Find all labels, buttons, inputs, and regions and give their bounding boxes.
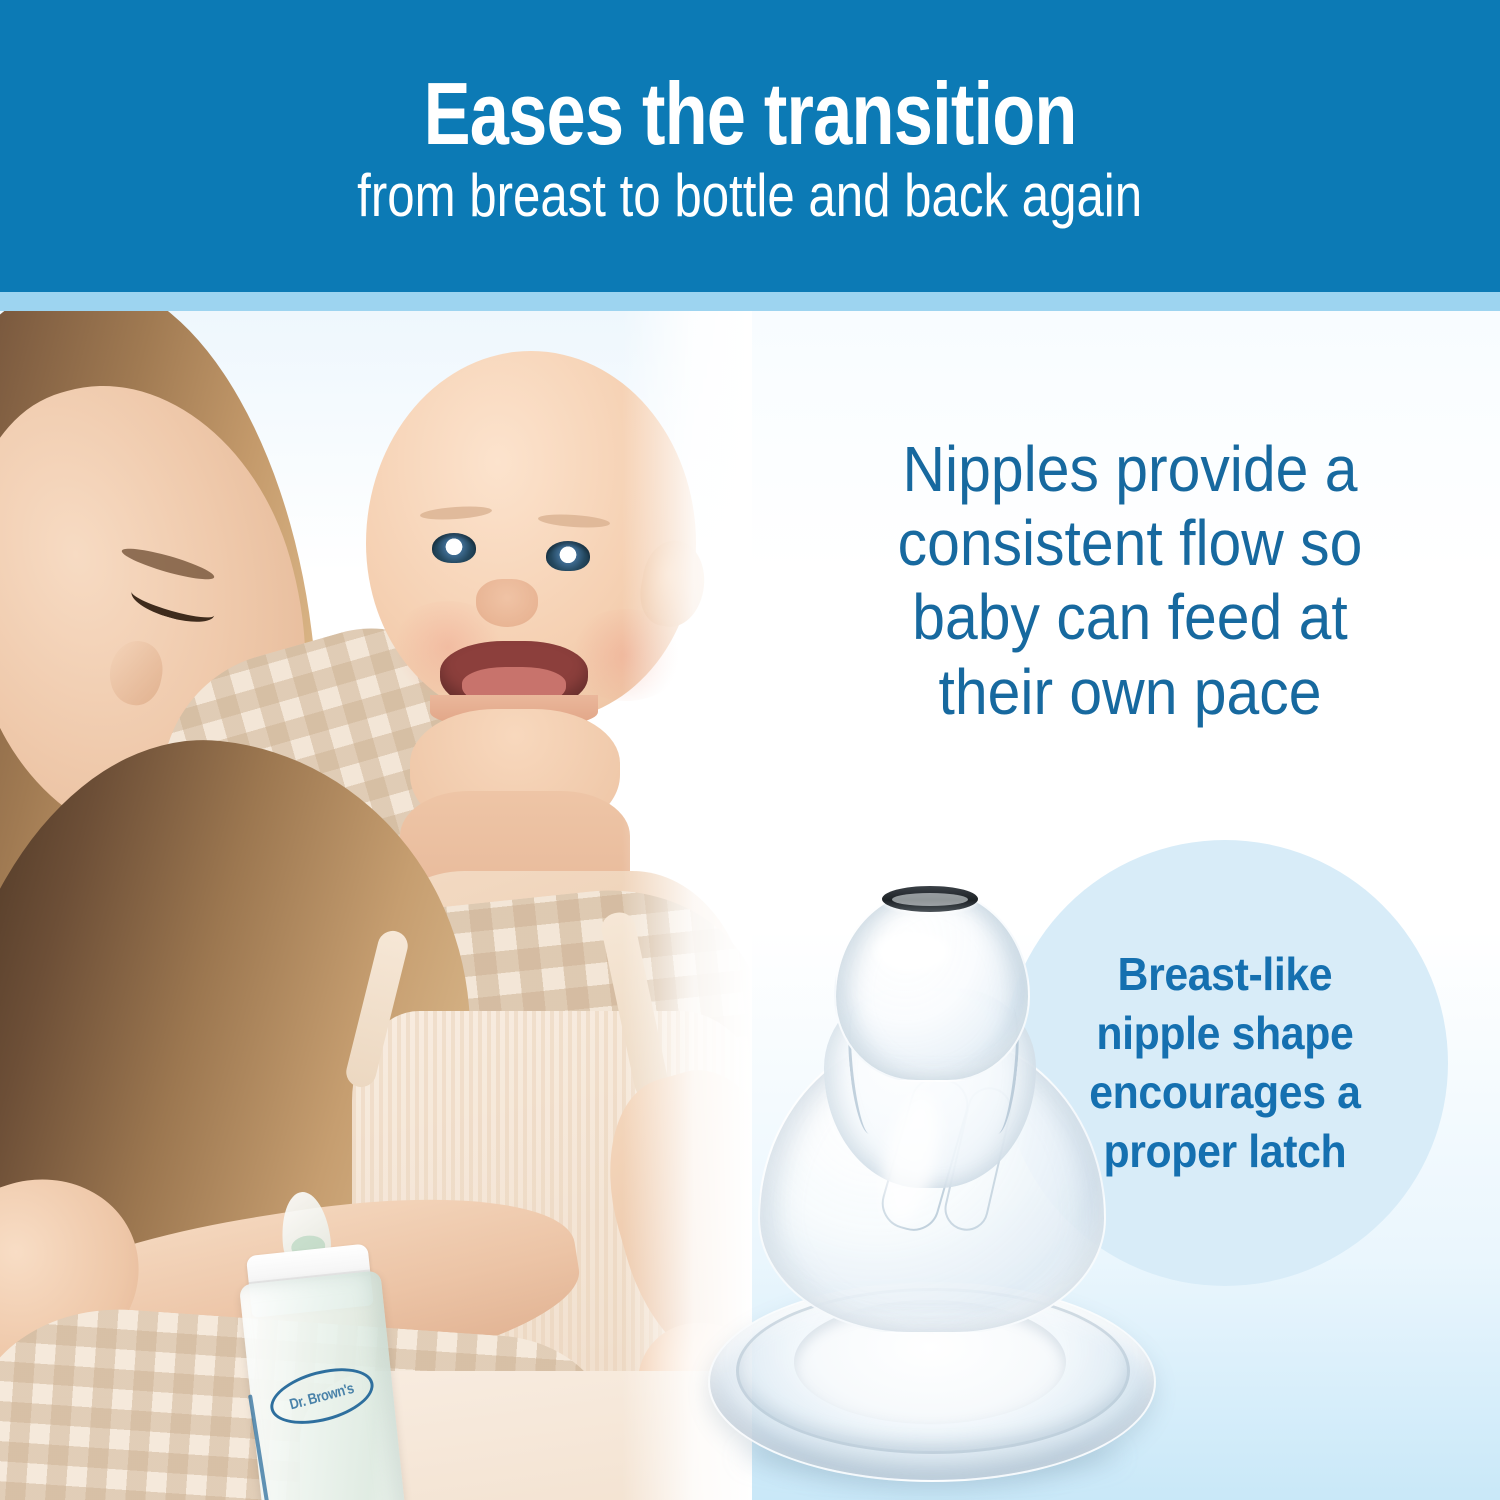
nipple-vent-hole-inner [892, 893, 968, 906]
blurb-line-1: Nipples provide a [799, 432, 1461, 506]
header-banner: Eases the transition from breast to bott… [0, 0, 1500, 292]
blurb-line-4: their own pace [799, 655, 1461, 729]
banner-subheadline: from breast to bottle and back again [358, 164, 1143, 227]
baby-eye-right [546, 541, 590, 571]
baby-nose [476, 579, 538, 627]
photo-bottom-fade [0, 1410, 752, 1500]
photo-scene: Dr. Brown's [0, 311, 752, 1500]
baby-eye-left [432, 533, 476, 563]
banner-accent-stripe [0, 292, 1500, 311]
blurb-line-3: baby can feed at [799, 580, 1461, 654]
product-feature-poster: Eases the transition from breast to bott… [0, 0, 1500, 1500]
lifestyle-photo: Dr. Brown's [0, 311, 752, 1500]
banner-headline: Eases the transition [423, 69, 1076, 159]
product-nipple-image [700, 880, 1160, 1480]
blurb-line-2: consistent flow so [799, 506, 1461, 580]
nipple-dome-tip [834, 888, 1030, 1082]
nipple-highlight-upper [876, 932, 950, 972]
bottle-brand-text: Dr. Brown's [288, 1379, 356, 1412]
feature-blurb: Nipples provide a consistent flow so bab… [770, 432, 1490, 729]
